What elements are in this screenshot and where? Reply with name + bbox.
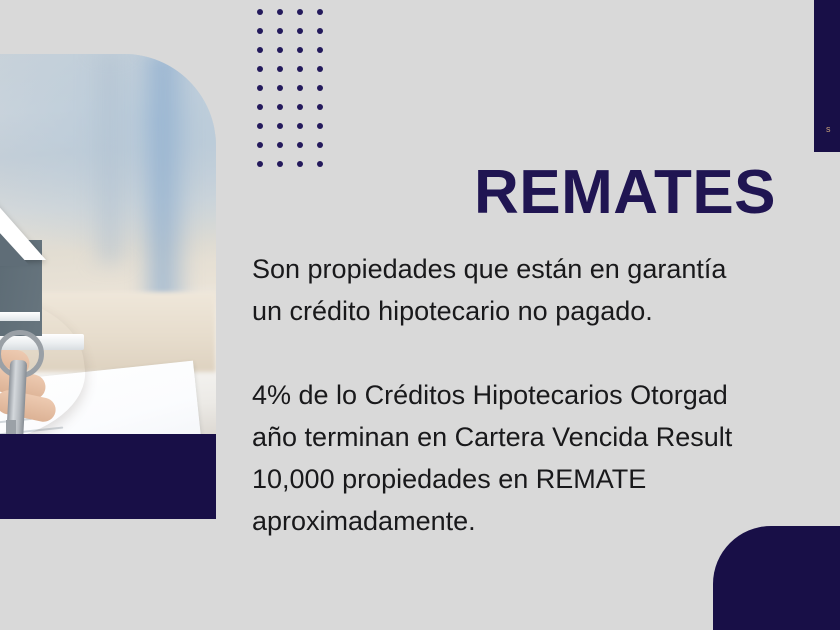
dot [277, 28, 283, 34]
dot [317, 9, 323, 15]
dot [277, 9, 283, 15]
house-photo [0, 54, 216, 434]
dot [257, 142, 263, 148]
house-gable-inner [0, 220, 30, 266]
dot [317, 47, 323, 53]
dot [297, 104, 303, 110]
dot [297, 66, 303, 72]
dot [317, 104, 323, 110]
photo-blur-band-b [136, 54, 194, 304]
dot [317, 142, 323, 148]
navy-strip-label: s [826, 124, 831, 134]
paragraph-spacer [252, 332, 840, 374]
dot [317, 161, 323, 167]
photo-blur-band-a [90, 54, 130, 264]
dot [297, 28, 303, 34]
dot [277, 66, 283, 72]
dot [317, 123, 323, 129]
key-teeth [6, 420, 16, 434]
dot [257, 123, 263, 129]
dot [297, 85, 303, 91]
dot [257, 85, 263, 91]
dot [317, 85, 323, 91]
dot [257, 66, 263, 72]
navy-strip-top-right: s [814, 0, 840, 152]
dot [317, 28, 323, 34]
dot [297, 47, 303, 53]
paragraph-line: año terminan en Cartera Vencida Result [252, 416, 840, 458]
navy-block-under-photo [0, 434, 216, 519]
dot [297, 123, 303, 129]
dot [277, 123, 283, 129]
dot [257, 104, 263, 110]
dot [277, 142, 283, 148]
body-copy: Son propiedades que están en garantía un… [252, 248, 840, 542]
dot [297, 142, 303, 148]
dot [317, 66, 323, 72]
dot [277, 47, 283, 53]
model-house [0, 172, 80, 350]
house-ledge [0, 312, 40, 321]
paragraph-line: un crédito hipotecario no pagado. [252, 290, 840, 332]
paragraph-statistic: 4% de lo Créditos Hipotecarios Otorgad a… [252, 374, 840, 542]
dot [297, 9, 303, 15]
page-title: REMATES [474, 160, 776, 225]
dot [257, 9, 263, 15]
dot [277, 85, 283, 91]
dot-grid-decoration [250, 2, 330, 173]
paragraph-line: Son propiedades que están en garantía [252, 248, 840, 290]
dot [277, 161, 283, 167]
dot [277, 104, 283, 110]
dot [257, 28, 263, 34]
paragraph-line: 4% de lo Créditos Hipotecarios Otorgad [252, 374, 840, 416]
dot [257, 47, 263, 53]
dot [257, 161, 263, 167]
slide-canvas: s REMATES Son propiedades que están en g… [0, 0, 840, 630]
paragraph-line: 10,000 propiedades en REMATE [252, 458, 840, 500]
paragraph-definition: Son propiedades que están en garantía un… [252, 248, 840, 332]
dot [297, 161, 303, 167]
paragraph-line: aproximadamente. [252, 500, 840, 542]
